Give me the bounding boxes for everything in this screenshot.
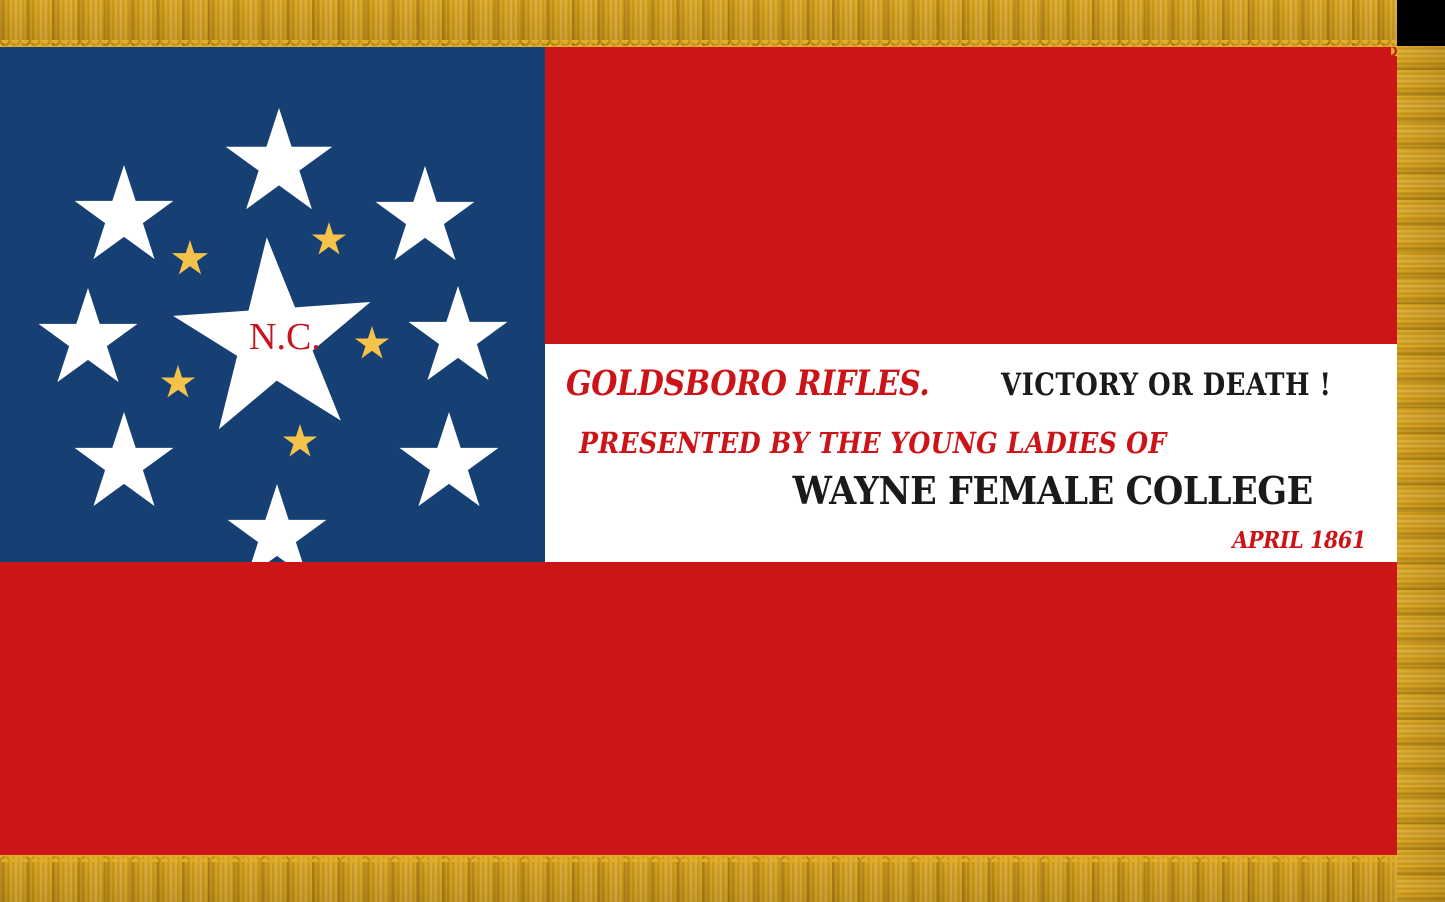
- white-star-lower-left: [75, 412, 174, 506]
- gold-star-bottom: [283, 424, 317, 457]
- canton-star-group: [0, 46, 545, 562]
- white-star-top: [226, 108, 333, 209]
- institution-line: WAYNE FEMALE COLLEGE: [579, 472, 1381, 511]
- flag-field-red: N.C. GOLDSBORO RIFLES. VICTORY OR DEATH …: [0, 46, 1397, 856]
- date-text: APRIL 1861: [1232, 529, 1365, 552]
- gold-star-left: [161, 365, 195, 398]
- fringe-bottom-band: [0, 856, 1397, 902]
- institution-text: WAYNE FEMALE COLLEGE: [792, 472, 1312, 510]
- gold-star-upper-left: [172, 240, 208, 274]
- scallop-edge-right: [1391, 46, 1398, 856]
- fringe-right-band: [1397, 46, 1445, 902]
- unit-name-text: GOLDSBORO RIFLES.: [566, 366, 929, 401]
- white-star-left: [39, 288, 138, 382]
- white-star-upper-left: [75, 165, 174, 259]
- date-line: APRIL 1861: [579, 529, 1381, 552]
- canton-blue: N.C.: [0, 46, 545, 562]
- inscription-stripe-white: GOLDSBORO RIFLES. VICTORY OR DEATH ! PRE…: [545, 344, 1397, 562]
- white-star-right: [409, 286, 508, 380]
- presented-by-text: PRESENTED BY THE YOUNG LADIES OF: [579, 429, 1277, 458]
- gold-star-upper-right: [312, 222, 346, 255]
- gold-star-right: [355, 326, 389, 359]
- flag-illustration: N.C. GOLDSBORO RIFLES. VICTORY OR DEATH …: [0, 0, 1445, 902]
- motto-text: VICTORY OR DEATH !: [1001, 370, 1331, 401]
- center-star-nc: [168, 230, 378, 431]
- white-star-upper-right: [376, 166, 475, 260]
- inscription-line-1: GOLDSBORO RIFLES. VICTORY OR DEATH !: [579, 366, 1381, 401]
- white-star-lower-right: [400, 412, 499, 506]
- scallop-edge-top: [0, 40, 1397, 47]
- scallop-edge-bottom: [0, 855, 1397, 862]
- inscription-block: GOLDSBORO RIFLES. VICTORY OR DEATH ! PRE…: [545, 344, 1397, 562]
- white-star-bottom: [228, 484, 327, 562]
